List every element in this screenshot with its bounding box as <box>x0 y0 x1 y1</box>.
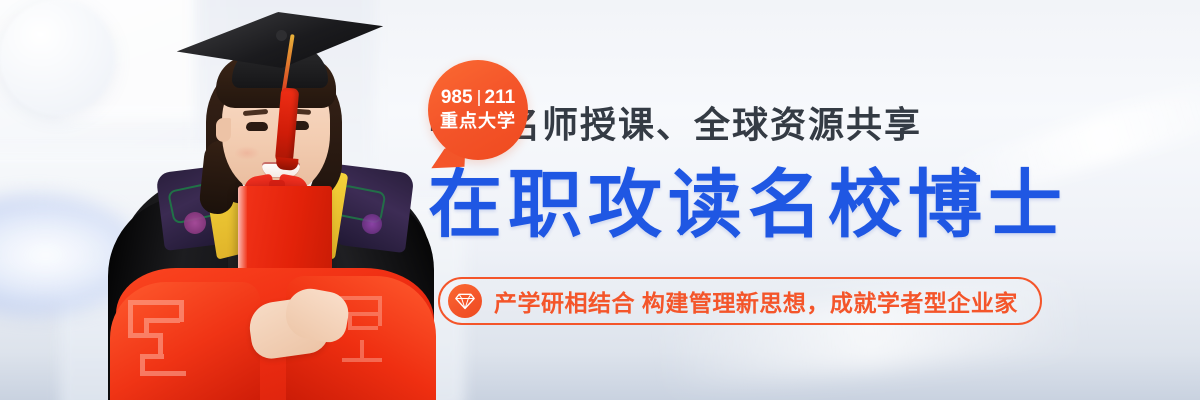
ear <box>216 118 231 142</box>
meander-pattern-left <box>128 300 220 384</box>
hood-embroidery-purple-left <box>184 212 206 234</box>
cheek-blush <box>234 146 260 160</box>
promotional-banner: 中外名师授课、全球资源共享 在职攻读名校博士 产学研相结合 构建管理新思想，成就… <box>0 0 1200 400</box>
university-badge: 985 211 重点大学 <box>428 60 528 160</box>
badge-bubble: 985 211 重点大学 <box>428 60 528 160</box>
headline: 在职攻读名校博士 <box>428 168 1068 242</box>
hood-embroidery-purple-right <box>362 214 382 234</box>
eye-left <box>246 122 268 131</box>
diamond-icon <box>448 284 482 318</box>
badge-divider <box>478 90 480 106</box>
badge-number-985: 985 <box>437 88 477 109</box>
tagline-text: 产学研相结合 构建管理新思想，成就学者型企业家 <box>494 284 1018 318</box>
tagline-pill: 产学研相结合 构建管理新思想，成就学者型企业家 <box>438 277 1042 325</box>
bg-circle <box>0 0 115 115</box>
badge-numbers: 985 211 <box>437 88 519 109</box>
badge-caption: 重点大学 <box>440 110 516 133</box>
graduate-student-photo <box>110 0 440 400</box>
badge-number-211: 211 <box>481 88 520 109</box>
